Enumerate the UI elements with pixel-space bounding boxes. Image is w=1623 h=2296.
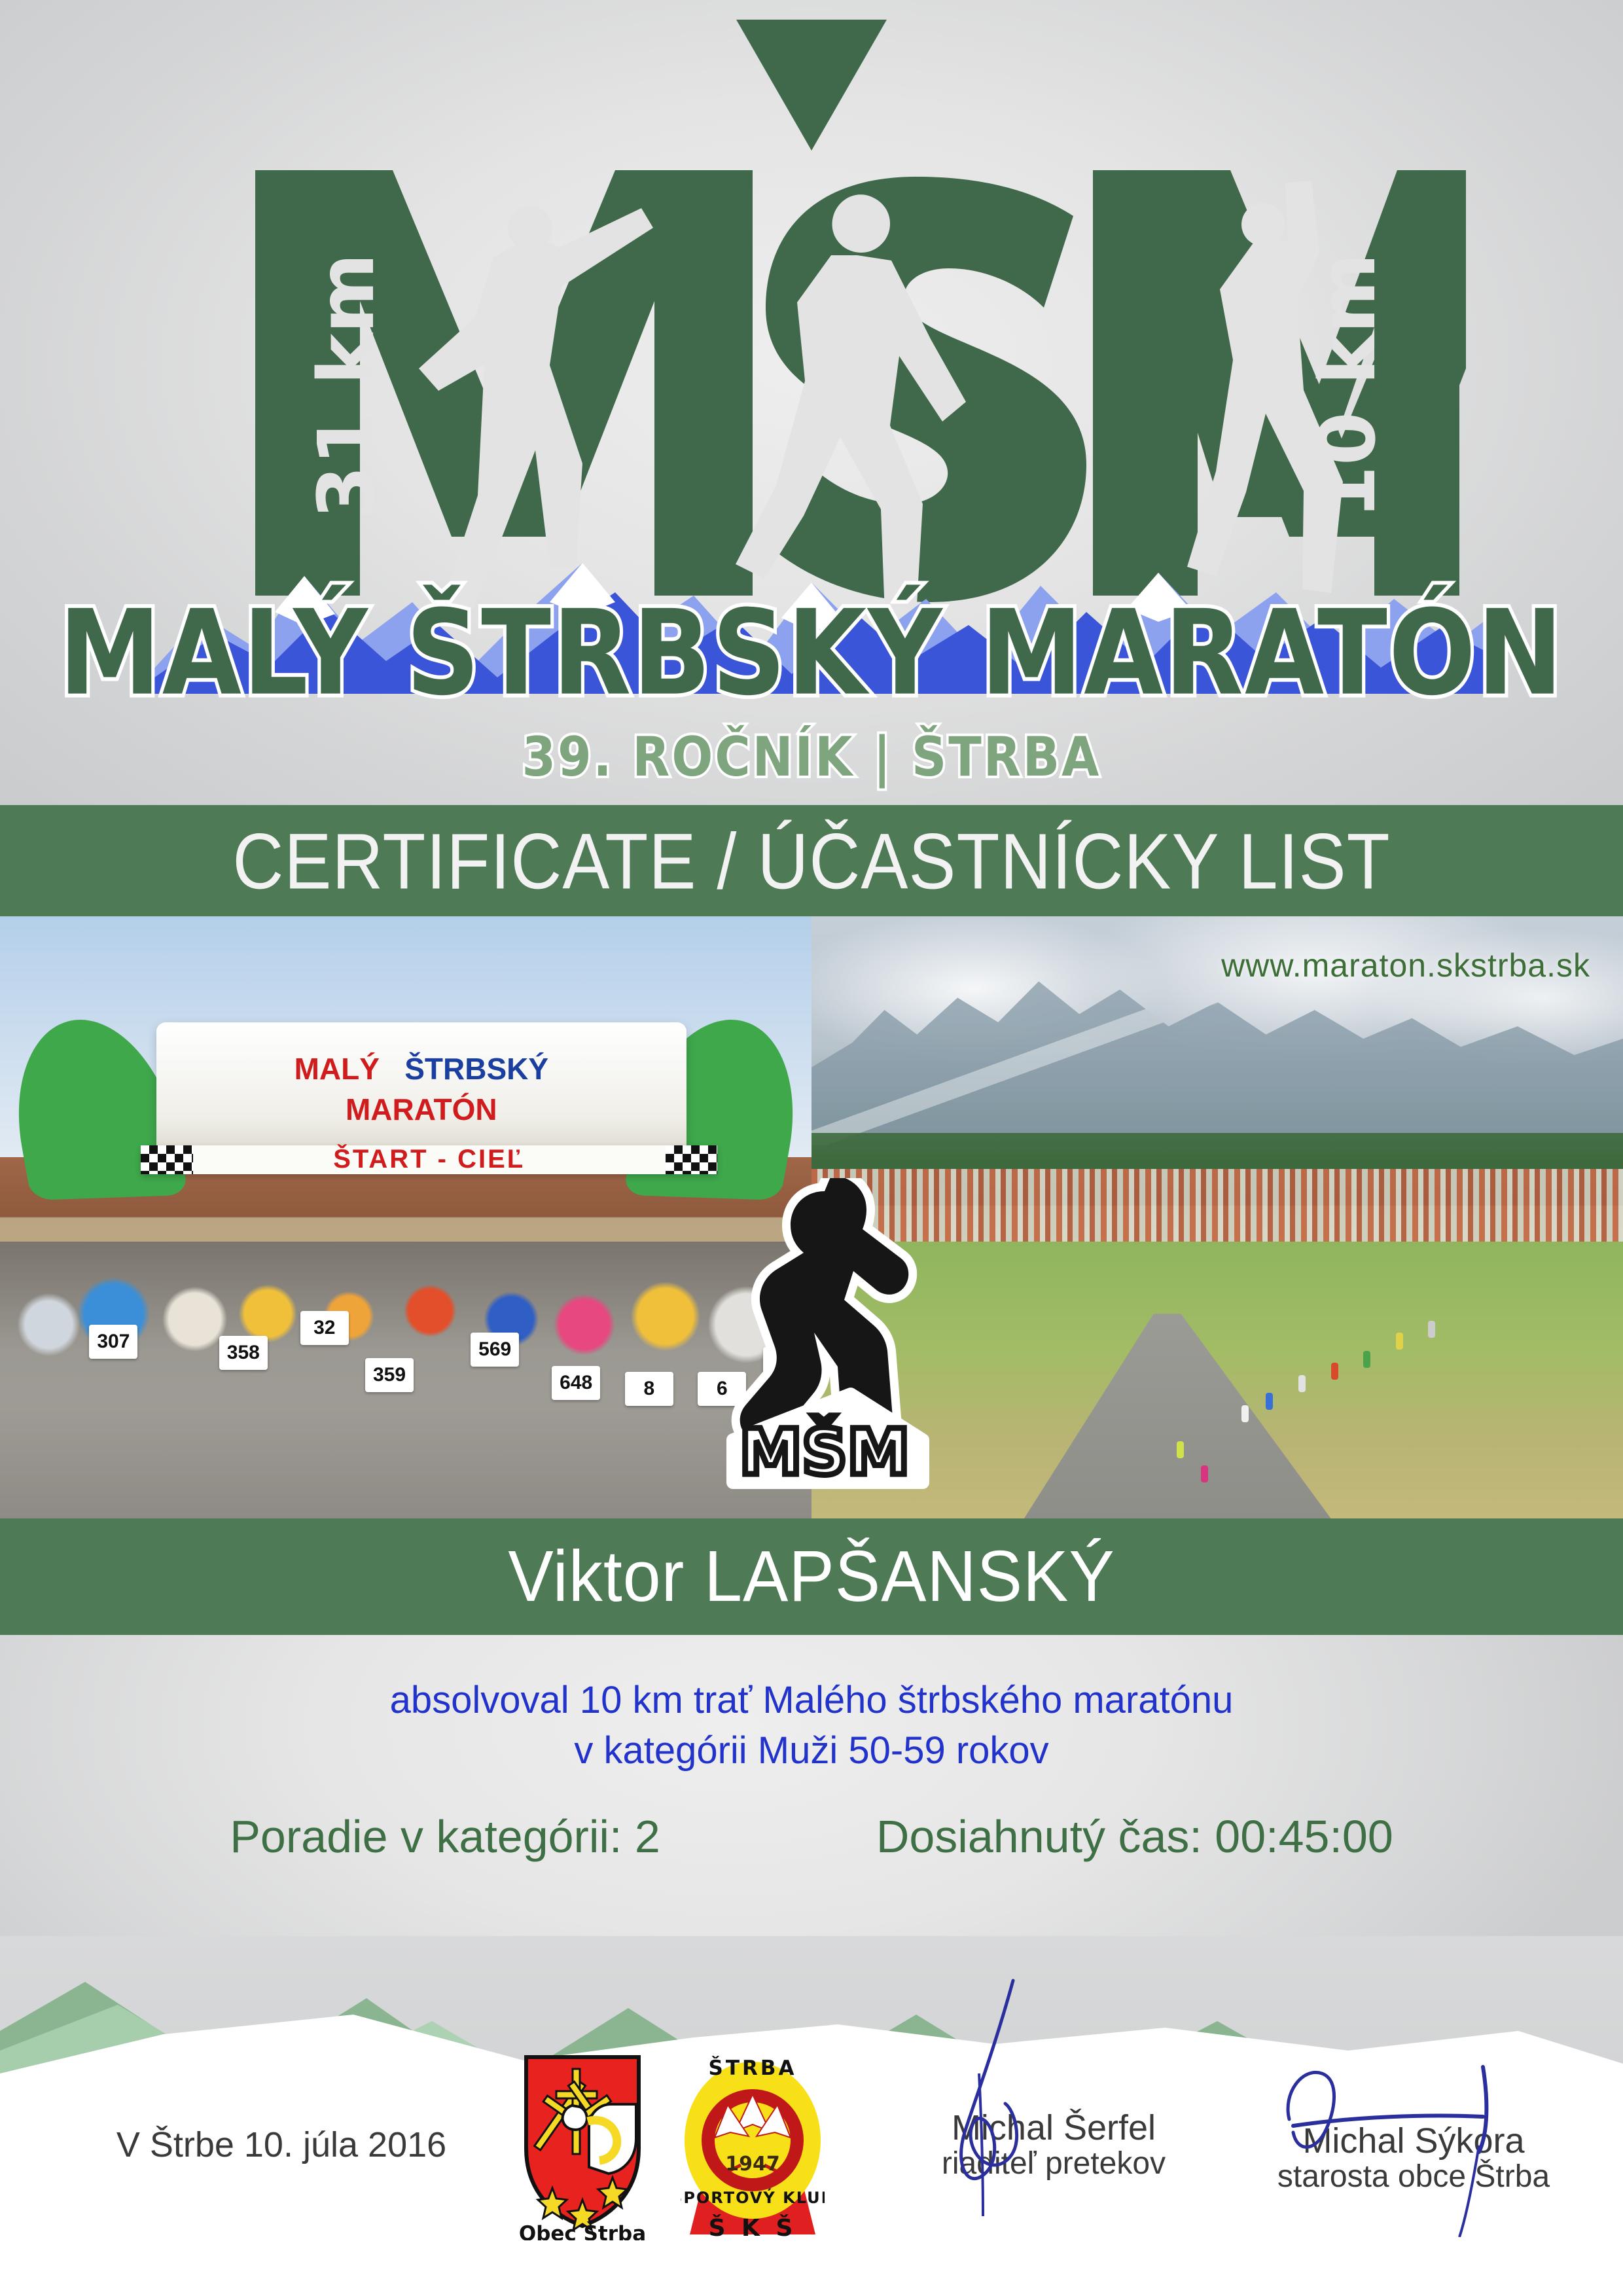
event-subtitle: 39. ROČNÍK | ŠTRBA: [0, 726, 1623, 789]
footer-section: V Štrbe 10. júla 2016 Obec Štrba: [0, 1936, 1623, 2296]
runner-bib: 359: [365, 1358, 414, 1392]
runner-bib: 32: [300, 1311, 349, 1345]
runner-bib: 569: [471, 1333, 519, 1367]
road-runner: [1396, 1333, 1403, 1350]
certificate-title-band: CERTIFICATE / ÚČASTNÍCKY LIST: [0, 805, 1623, 916]
achievement-description: absolvoval 10 km trať Malého štrbského m…: [0, 1676, 1623, 1776]
road-runner: [1298, 1375, 1306, 1392]
obec-strba-coat-of-arms: Obec Štrba: [517, 2051, 648, 2240]
start-line-photo: MALÝ ŠTRBSKÝ MARATÓN ŠTART - CIEĽ 307 35…: [0, 916, 811, 1518]
athlete-name: Viktor LAPŠANSKÝ: [508, 1535, 1115, 1618]
sks-top-text: ŠTRBA: [709, 2056, 797, 2080]
arch-maraton-text: MARATÓN: [346, 1092, 497, 1126]
logo-title-block: MALÝ ŠTRBSKÝ MARATÓN 39. ROČNÍK | ŠTRBA: [0, 613, 1623, 785]
arch-banner-line1: MALÝ ŠTRBSKÝ: [294, 1051, 548, 1086]
website-url[interactable]: www.maraton.skstrba.sk: [1221, 946, 1590, 984]
runner-crowd: 307 358 32 359 569 648 8 6 360: [0, 1242, 811, 1518]
footer-content: V Štrbe 10. júla 2016 Obec Štrba: [0, 1936, 1623, 2296]
msm-badge-text: MŠM: [740, 1415, 910, 1489]
sks-year: 1947: [725, 2153, 780, 2176]
sks-club-logo: ŠTRBA 1947 ŠPORTOVÝ KLUB Š K Š: [681, 2047, 825, 2244]
signature-stroke-sykora: [1263, 1988, 1538, 2237]
arch-banner: MALÝ ŠTRBSKÝ MARATÓN: [156, 1022, 686, 1156]
crest-hand: [563, 2106, 587, 2130]
category-rank: Poradie v kategórii: 2: [230, 1810, 660, 1863]
certificate-title: CERTIFICATE / ÚČASTNÍCKY LIST: [232, 815, 1390, 906]
description-line-1: absolvoval 10 km trať Malého štrbského m…: [0, 1676, 1623, 1726]
road-runner: [1363, 1351, 1370, 1368]
distance-left-label: 31 km: [301, 253, 391, 520]
sks-bottom-text: Š K Š: [709, 2214, 797, 2242]
start-finish-text: ŠTART - CIEĽ: [333, 1145, 525, 1174]
runner-bib: 307: [89, 1325, 137, 1359]
runner-bib: 358: [219, 1336, 268, 1370]
road-runner: [1241, 1405, 1249, 1422]
arch-strbsky-text: ŠTRBSKÝ: [404, 1052, 548, 1086]
event-title: MALÝ ŠTRBSKÝ MARATÓN: [0, 595, 1623, 712]
msm-runner-sticker-icon: MŠM: [726, 1178, 949, 1492]
result-details-section: absolvoval 10 km trať Malého štrbského m…: [0, 1635, 1623, 1936]
inflatable-start-arch: MALÝ ŠTRBSKÝ MARATÓN ŠTART - CIEĽ: [16, 1018, 795, 1199]
description-line-2: v kategórii Muži 50-59 rokov: [0, 1726, 1623, 1776]
road-runner: [1201, 1465, 1208, 1482]
result-values-row: Poradie v kategórii: 2 Dosiahnutý čas: 0…: [0, 1810, 1623, 1863]
runner-bib: 8: [625, 1372, 673, 1406]
road-runner: [1177, 1441, 1184, 1458]
athlete-name-band: Viktor LAPŠANSKÝ: [0, 1518, 1623, 1635]
caron-accent: [736, 20, 887, 151]
road-runner: [1266, 1393, 1273, 1410]
road-runner: [1428, 1321, 1435, 1338]
arch-banner-line2: MARATÓN: [346, 1092, 497, 1127]
logo-header-area: 31 km 10 km MALÝ ŠTRBSKÝ MARATÓN 39. ROČ…: [0, 0, 1623, 805]
finish-time: Dosiahnutý čas: 00:45:00: [876, 1810, 1393, 1863]
road-runner: [1331, 1363, 1338, 1380]
runner-bib: 648: [552, 1366, 600, 1400]
distance-right-label: 10 km: [1302, 253, 1393, 520]
crest-caption: Obec Štrba: [519, 2221, 646, 2240]
arch-maly-text: MALÝ: [294, 1052, 380, 1086]
sks-arc-text: ŠPORTOVÝ KLUB: [681, 2187, 825, 2207]
issue-date: V Štrbe 10. júla 2016: [72, 2125, 491, 2165]
msm-wordmark-logo: 31 km 10 km: [157, 20, 1466, 609]
signature-stroke-serfel: [897, 1975, 1106, 2217]
start-finish-banner: ŠTART - CIEĽ: [141, 1145, 717, 1174]
